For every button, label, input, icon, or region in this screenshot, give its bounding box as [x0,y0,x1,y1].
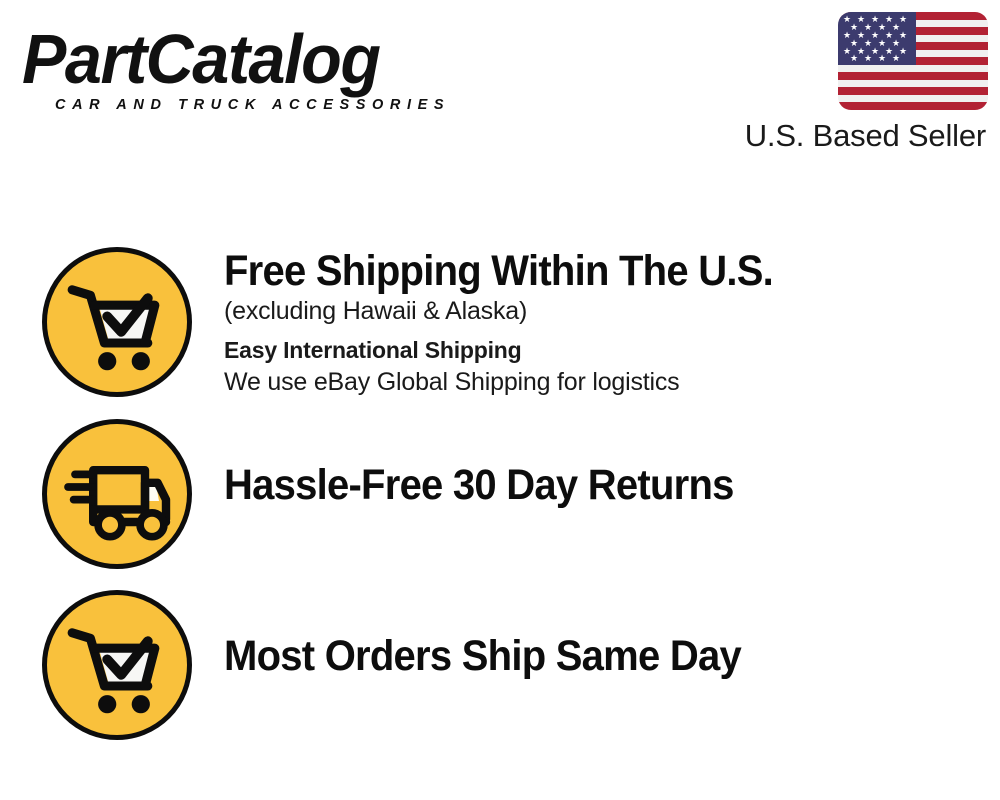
shopping-cart-check-icon [42,590,192,740]
feature-text-block: Free Shipping Within The U.S. (excluding… [224,247,984,399]
flag-stripe [838,87,988,95]
feature-subnote: (excluding Hawaii & Alaska) [224,295,984,328]
feature-sub-bold: Easy International Shipping [224,334,984,366]
brand-tagline: CAR AND TRUCK ACCESSORIES [55,97,492,113]
us-flag-icon: ★ ★ ★ ★ ★ ★ ★ ★ ★ ★ ★ ★ ★ ★ ★ ★ ★ ★ ★ ★ … [838,12,988,110]
flag-stripe [838,102,988,110]
shopping-cart-check-icon [42,247,192,397]
flag-stripe [838,72,988,80]
page-header: PartCatalog CAR AND TRUCK ACCESSORIES ★ … [0,0,1000,175]
feature-text-block: Most Orders Ship Same Day [224,632,984,680]
feature-heading: Free Shipping Within The U.S. [224,247,931,295]
feature-heading: Most Orders Ship Same Day [224,632,931,680]
feature-sub-plain: We use eBay Global Shipping for logistic… [224,366,984,399]
brand-wordmark: PartCatalog [22,22,469,96]
feature-text-block: Hassle-Free 30 Day Returns [224,461,984,509]
flag-canton: ★ ★ ★ ★ ★ ★ ★ ★ ★ ★ ★ ★ ★ ★ ★ ★ ★ ★ ★ ★ … [838,12,916,65]
delivery-truck-icon [42,419,192,569]
brand-logo[interactable]: PartCatalog CAR AND TRUCK ACCESSORIES [22,22,492,113]
flag-stripe [838,80,988,88]
flag-stripe [838,65,988,73]
us-based-seller-label: U.S. Based Seller [745,118,986,154]
feature-heading: Hassle-Free 30 Day Returns [224,461,931,509]
flag-stripe [838,95,988,103]
